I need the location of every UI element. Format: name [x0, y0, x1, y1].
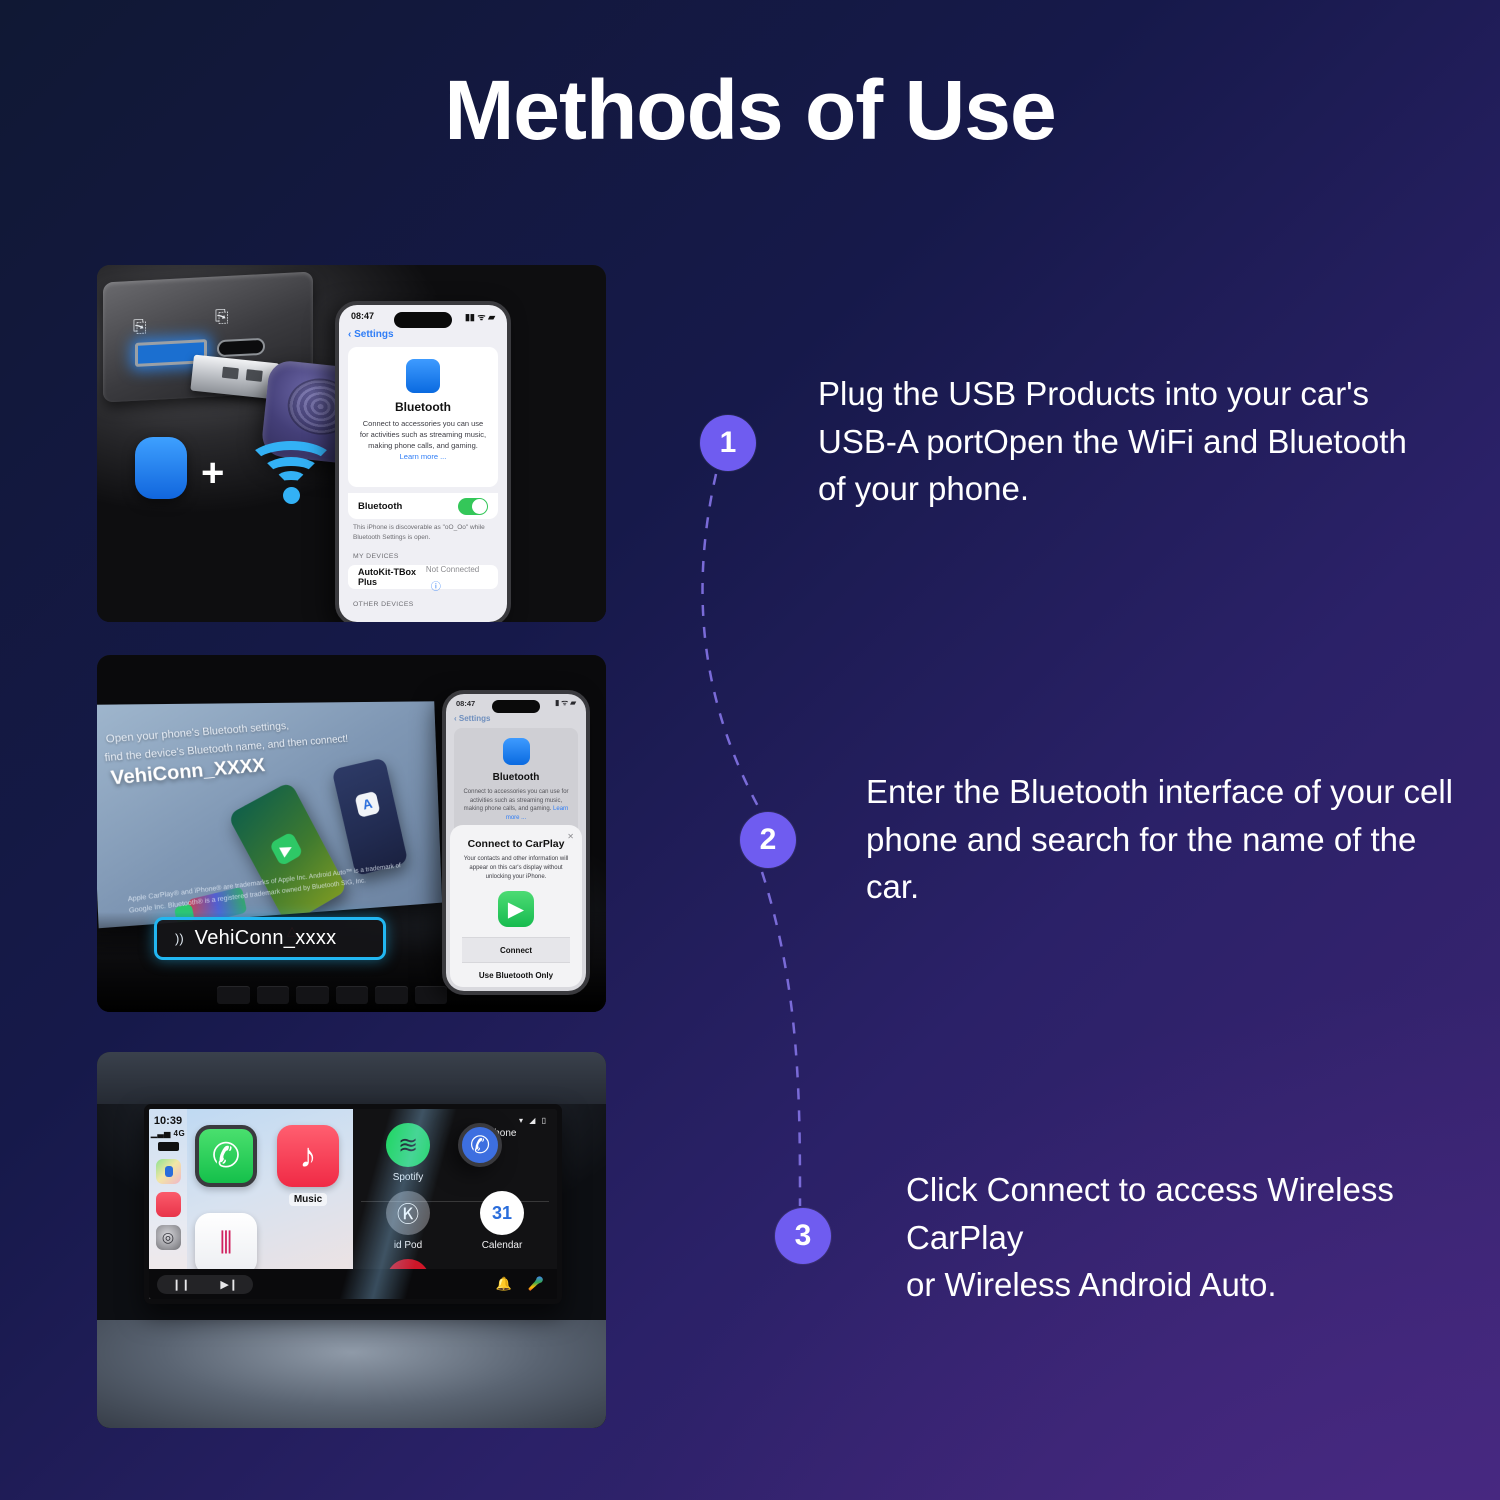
step-badge-1: 1	[700, 415, 756, 471]
back-to-settings-link[interactable]: ‹ Settings	[454, 714, 490, 723]
bluetooth-toggle-label: Bluetooth	[358, 501, 402, 512]
carplay-app-grid: ✆ Phone ♪ Music	[195, 1125, 339, 1207]
bluetooth-toggle[interactable]	[458, 498, 488, 515]
calendar-icon: 31	[480, 1191, 524, 1235]
bluetooth-signal-waves-icon: ))	[175, 931, 184, 946]
status-time: 08:47	[456, 699, 475, 708]
connect-button[interactable]: Connect	[462, 937, 570, 962]
phone-screen: 08:47 ▮▮ ᯤ ▰ ‹ Settings Bluetooth Connec…	[339, 305, 507, 622]
carplay-app-label: Music	[289, 1193, 327, 1206]
hvac-key[interactable]	[296, 986, 329, 1004]
maps-icon[interactable]	[156, 1159, 181, 1184]
dynamic-island	[492, 700, 540, 713]
bluetooth-info-card: Bluetooth Connect to accessories you can…	[454, 728, 578, 840]
connect-to-carplay-dialog: ✕ Connect to CarPlay Your contacts and o…	[450, 825, 582, 987]
phone-screen: 08:47 ▮ ᯤ ▰ ‹ Settings Bluetooth Connect…	[446, 694, 586, 991]
spotify-icon: ≋	[386, 1123, 430, 1167]
device-state: Not Connected	[426, 565, 479, 574]
android-auto-logo-icon: A	[354, 790, 380, 817]
carplay-network-label: ▁▃▅ 4G	[151, 1129, 185, 1138]
status-indicators: ▮ ᯤ ▰	[555, 698, 576, 708]
carplay-app-phone[interactable]: ✆ Phone	[195, 1125, 257, 1207]
hvac-key[interactable]	[336, 986, 369, 1004]
step-badge-2: 2	[740, 812, 796, 868]
iphone-bluetooth-settings: 08:47 ▮▮ ᯤ ▰ ‹ Settings Bluetooth Connec…	[335, 301, 511, 622]
android-auto-bottom-bar: ❙❙ ▶❙ 🔔 🎤	[149, 1269, 557, 1299]
music-icon: ♪	[277, 1125, 339, 1187]
pause-icon[interactable]: ❙❙	[172, 1278, 190, 1291]
aa-app-label: Spotify	[364, 1172, 452, 1183]
dashboard-bottom	[97, 1320, 606, 1428]
usb-c-symbol-icon: ⎘	[215, 307, 229, 328]
learn-more-link[interactable]: Learn more ...	[400, 452, 447, 461]
bluetooth-toggle-row[interactable]: Bluetooth	[348, 493, 498, 519]
wifi-icon	[245, 441, 337, 505]
carplay-logo-icon: ▶	[498, 891, 534, 927]
head-unit-display: 10:39 ▁▃▅ 4G ◎ ✆ Phone ♪ Music	[144, 1104, 562, 1304]
bluetooth-icon	[135, 437, 187, 499]
other-devices-header: OTHER DEVICES	[353, 601, 414, 608]
device-status-group: Not Connected ⓘ	[426, 559, 488, 595]
bluetooth-icon	[104, 769, 106, 789]
step-1-image-panel: ⎘ ⎘ + 08:47 ▮▮ ᯤ ▰ ‹ Settings	[97, 265, 606, 622]
step-text-2: Enter the Bluetooth interface of your ce…	[866, 768, 1466, 911]
device-row-autokit[interactable]: AutoKit-TBox Plus Not Connected ⓘ	[348, 565, 498, 589]
phone-icon: ✆	[458, 1123, 502, 1167]
dialog-subtitle: Your contacts and other information will…	[462, 855, 570, 882]
bluetooth-name-callout: )) VehiConn_xxxx	[154, 917, 386, 960]
now-playing-icon: ⦀	[195, 1213, 257, 1275]
bluetooth-app-icon	[503, 738, 530, 765]
hvac-control-row	[217, 984, 447, 1006]
aa-app-kpod[interactable]: Ⓚ id Pod	[364, 1191, 452, 1251]
aa-app-calendar[interactable]: 31 Calendar	[458, 1191, 546, 1251]
step-text-3: Click Connect to access Wireless CarPlay…	[906, 1166, 1486, 1309]
page-title: Methods of Use	[0, 62, 1500, 159]
discoverable-note: This iPhone is discoverable as "oO_Oo" w…	[353, 523, 495, 543]
bluetooth-heading: Bluetooth	[358, 400, 488, 414]
aa-app-label: id Pod	[364, 1240, 452, 1251]
hvac-key[interactable]	[375, 986, 408, 1004]
media-controls: ❙❙ ▶❙	[157, 1275, 253, 1294]
bottom-bar-right-icons: 🔔 🎤	[496, 1276, 557, 1292]
status-indicators: ▮▮ ᯤ ▰	[465, 310, 495, 323]
carplay-logo-icon: ▶	[269, 831, 304, 866]
step-text-1: Plug the USB Products into your car's US…	[818, 370, 1428, 513]
dialog-title: Connect to CarPlay	[462, 838, 570, 850]
bluetooth-info-card: Bluetooth Connect to accessories you can…	[348, 347, 498, 487]
grid-divider	[361, 1201, 549, 1202]
music-icon[interactable]	[156, 1192, 181, 1217]
wifi-dot	[283, 487, 300, 504]
carplay-clock: 10:39	[154, 1115, 182, 1127]
phone-icon: ✆	[195, 1125, 257, 1187]
page-root: Methods of Use ⎘ ⎘ + 08:47 ▮▮ ᯤ ▰	[0, 0, 1500, 1500]
back-to-settings-link[interactable]: ‹ Settings	[348, 329, 394, 340]
next-track-icon[interactable]: ▶❙	[220, 1278, 238, 1291]
hvac-key[interactable]	[415, 986, 448, 1004]
status-time: 08:47	[351, 311, 374, 321]
now-playing-dial-icon[interactable]: ◎	[156, 1225, 181, 1250]
aa-app-label: Calendar	[458, 1240, 546, 1251]
kpod-icon: Ⓚ	[386, 1191, 430, 1235]
dashboard-top	[97, 1052, 606, 1104]
microphone-icon[interactable]: 🎤	[528, 1276, 544, 1292]
close-icon[interactable]: ✕	[567, 832, 574, 841]
usb-c-slot	[217, 338, 265, 358]
bluetooth-description: Connect to accessories you can use for a…	[358, 419, 488, 463]
device-name: AutoKit-TBox Plus	[358, 567, 426, 587]
hvac-key[interactable]	[257, 986, 290, 1004]
info-icon[interactable]: ⓘ	[431, 582, 441, 593]
callout-device-name: VehiConn_xxxx	[195, 927, 337, 950]
my-devices-header: MY DEVICES	[353, 553, 399, 560]
bluetooth-description: Connect to accessories you can use for a…	[463, 788, 569, 823]
car-head-unit-screen: Open your phone's Bluetooth settings, fi…	[97, 701, 442, 928]
battery-icon	[158, 1142, 179, 1151]
carplay-app-music[interactable]: ♪ Music	[277, 1125, 339, 1207]
aa-app-phone[interactable]: ✆ Phone	[458, 1123, 546, 1183]
plus-icon: +	[201, 453, 224, 493]
bell-icon[interactable]: 🔔	[496, 1276, 512, 1292]
bluetooth-heading: Bluetooth	[463, 772, 569, 783]
hvac-key[interactable]	[217, 986, 250, 1004]
step-2-image-panel: Open your phone's Bluetooth settings, fi…	[97, 655, 606, 1012]
usb-a-symbol-icon: ⎘	[133, 317, 147, 338]
dynamic-island	[394, 312, 452, 328]
iphone-carplay-prompt: 08:47 ▮ ᯤ ▰ ‹ Settings Bluetooth Connect…	[442, 690, 590, 995]
step-badge-3: 3	[775, 1208, 831, 1264]
bluetooth-app-icon	[406, 359, 440, 393]
android-auto-phone-illustration: A	[332, 757, 409, 876]
aa-app-spotify[interactable]: ≋ Spotify	[364, 1123, 452, 1183]
use-bluetooth-only-button[interactable]: Use Bluetooth Only	[462, 962, 570, 987]
step-3-image-panel: 10:39 ▁▃▅ 4G ◎ ✆ Phone ♪ Music	[97, 1052, 606, 1428]
